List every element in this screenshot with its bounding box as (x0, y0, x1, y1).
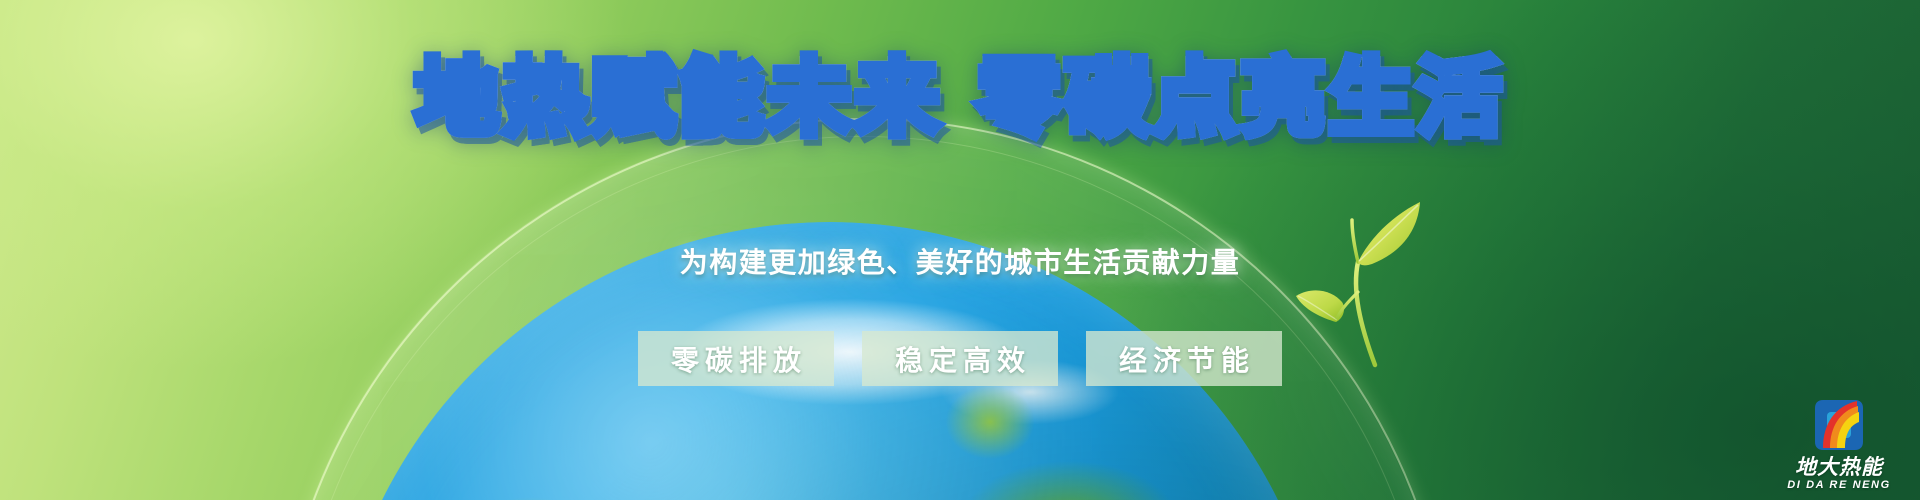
sprout-icon (1240, 150, 1570, 480)
feature-tag-stable-efficient[interactable]: 稳定高效 (862, 331, 1058, 386)
logo-name-cn: 地大热能 (1795, 456, 1883, 478)
logo-mark-icon (1809, 398, 1869, 454)
hero-banner: 地热赋能未来零碳点亮生活 为构建更加绿色、美好的城市生活贡献力量 零碳排放 稳定… (0, 0, 1920, 500)
glass-sphere-inner-rim (292, 136, 1434, 500)
feature-tag-economical[interactable]: 经济节能 (1086, 331, 1282, 386)
banner-title-part2: 零碳点亮生活 (977, 49, 1505, 147)
glass-sphere-rim (275, 118, 1454, 500)
logo-name-en: DI DA RE NENG (1787, 478, 1891, 492)
feature-tag-zero-carbon[interactable]: 零碳排放 (638, 331, 834, 386)
glass-sphere (275, 118, 1450, 500)
banner-title-part1: 地热赋能未来 (415, 49, 943, 147)
banner-subtitle: 为构建更加绿色、美好的城市生活贡献力量 (0, 241, 1920, 281)
feature-tag-list: 零碳排放 稳定高效 经济节能 (0, 331, 1920, 386)
banner-title: 地热赋能未来零碳点亮生活 (0, 56, 1920, 140)
company-logo[interactable]: 地大热能 DI DA RE NENG (1780, 398, 1898, 492)
